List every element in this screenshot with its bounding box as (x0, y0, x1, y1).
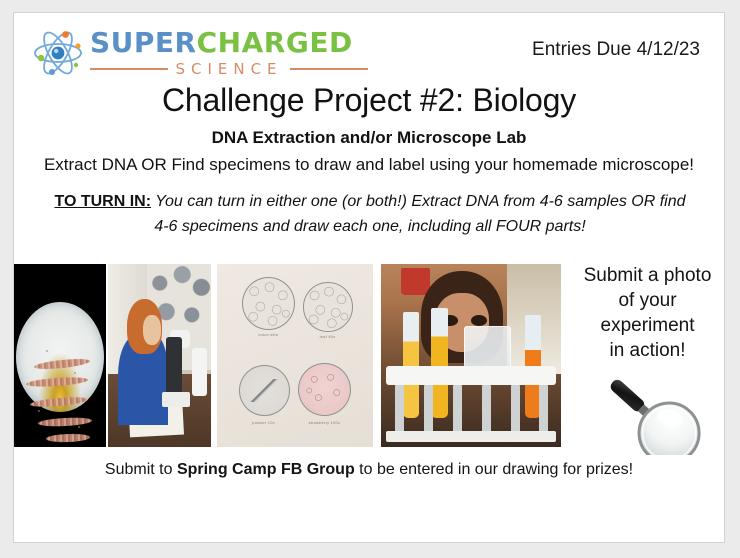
logo-rule-right (290, 68, 368, 70)
footer-highlight: Spring Camp FB Group (177, 461, 355, 478)
footer-prefix: Submit to (105, 461, 177, 478)
microscope-base (162, 392, 191, 407)
logo-word-science: SCIENCE (175, 60, 282, 78)
sketch-label-1: onion skin (248, 332, 288, 337)
poster-page: SUPERCHARGED SCIENCE Entries Due 4/12/23… (0, 0, 740, 558)
specimen-drawing-1 (242, 277, 295, 330)
page-subtitle: DNA Extraction and/or Microscope Lab (14, 128, 724, 148)
submit-line-2: of your (569, 288, 726, 313)
poster-card: SUPERCHARGED SCIENCE Entries Due 4/12/23… (13, 12, 725, 543)
specimen-streak (34, 357, 91, 371)
specimen-streak (26, 376, 88, 388)
entries-due-label: Entries Due 4/12/23 (532, 39, 700, 61)
page-title: Challenge Project #2: Biology (14, 82, 724, 119)
turn-in-label: TO TURN IN: (54, 193, 151, 210)
submit-photo-callout: Submit a photo of your experiment in act… (569, 263, 726, 363)
poster-header: SUPERCHARGED SCIENCE Entries Due 4/12/23 (14, 13, 724, 85)
logo-subline: SCIENCE (90, 60, 368, 78)
sketch-label-4: strawberry 100x (304, 420, 344, 425)
microscope-light-disc (16, 302, 104, 412)
sketch-label-3: powder 10x (244, 420, 284, 425)
speck (38, 410, 40, 412)
turn-in-instructions: TO TURN IN: You can turn in either one (… (54, 189, 686, 239)
test-tube-rack-top (386, 366, 555, 384)
sketch-label-2: leaf 40x (307, 334, 347, 339)
supercharged-science-logo[interactable]: SUPERCHARGED SCIENCE (32, 25, 392, 83)
magnifying-glass-icon (584, 375, 714, 455)
test-tube (403, 312, 419, 418)
specimen-drawings-photo: onion skin leaf 40x powder 10x strawberr… (217, 264, 373, 447)
student-at-microscope-photo (108, 264, 211, 447)
speck (46, 350, 48, 352)
logo-rule-left (90, 68, 168, 70)
drawing-sheet (217, 264, 373, 447)
turn-in-body: You can turn in either one (or both!) Ex… (151, 193, 685, 235)
logo-word-super: SUPER (90, 28, 197, 58)
instruction-line: Extract DNA OR Find specimens to draw an… (14, 155, 724, 175)
specimen-drawing-4 (298, 363, 351, 416)
submit-line-1: Submit a photo (569, 263, 726, 288)
logo-wordmark: SUPERCHARGED SCIENCE (90, 28, 390, 78)
atom-icon (32, 27, 84, 79)
submit-line-3: experiment (569, 313, 726, 338)
red-pot (401, 268, 430, 295)
specimen-drawing-3 (239, 365, 290, 416)
footer-suffix: to be entered in our drawing for prizes! (355, 461, 633, 478)
test-tube-rack-base (386, 431, 555, 442)
speck (78, 426, 80, 428)
spray-bottle (192, 348, 206, 396)
microscope-view-photo (14, 264, 106, 447)
student-face (143, 315, 161, 344)
submit-line-4: in action! (569, 338, 726, 363)
speck (74, 372, 76, 374)
logo-word-charged: CHARGED (197, 28, 353, 58)
dna-extraction-test-tubes-photo (381, 264, 561, 447)
specimen-drawing-2 (303, 282, 353, 331)
test-tube (431, 308, 447, 418)
footer-submit-note: Submit to Spring Camp FB Group to be ent… (14, 461, 724, 479)
